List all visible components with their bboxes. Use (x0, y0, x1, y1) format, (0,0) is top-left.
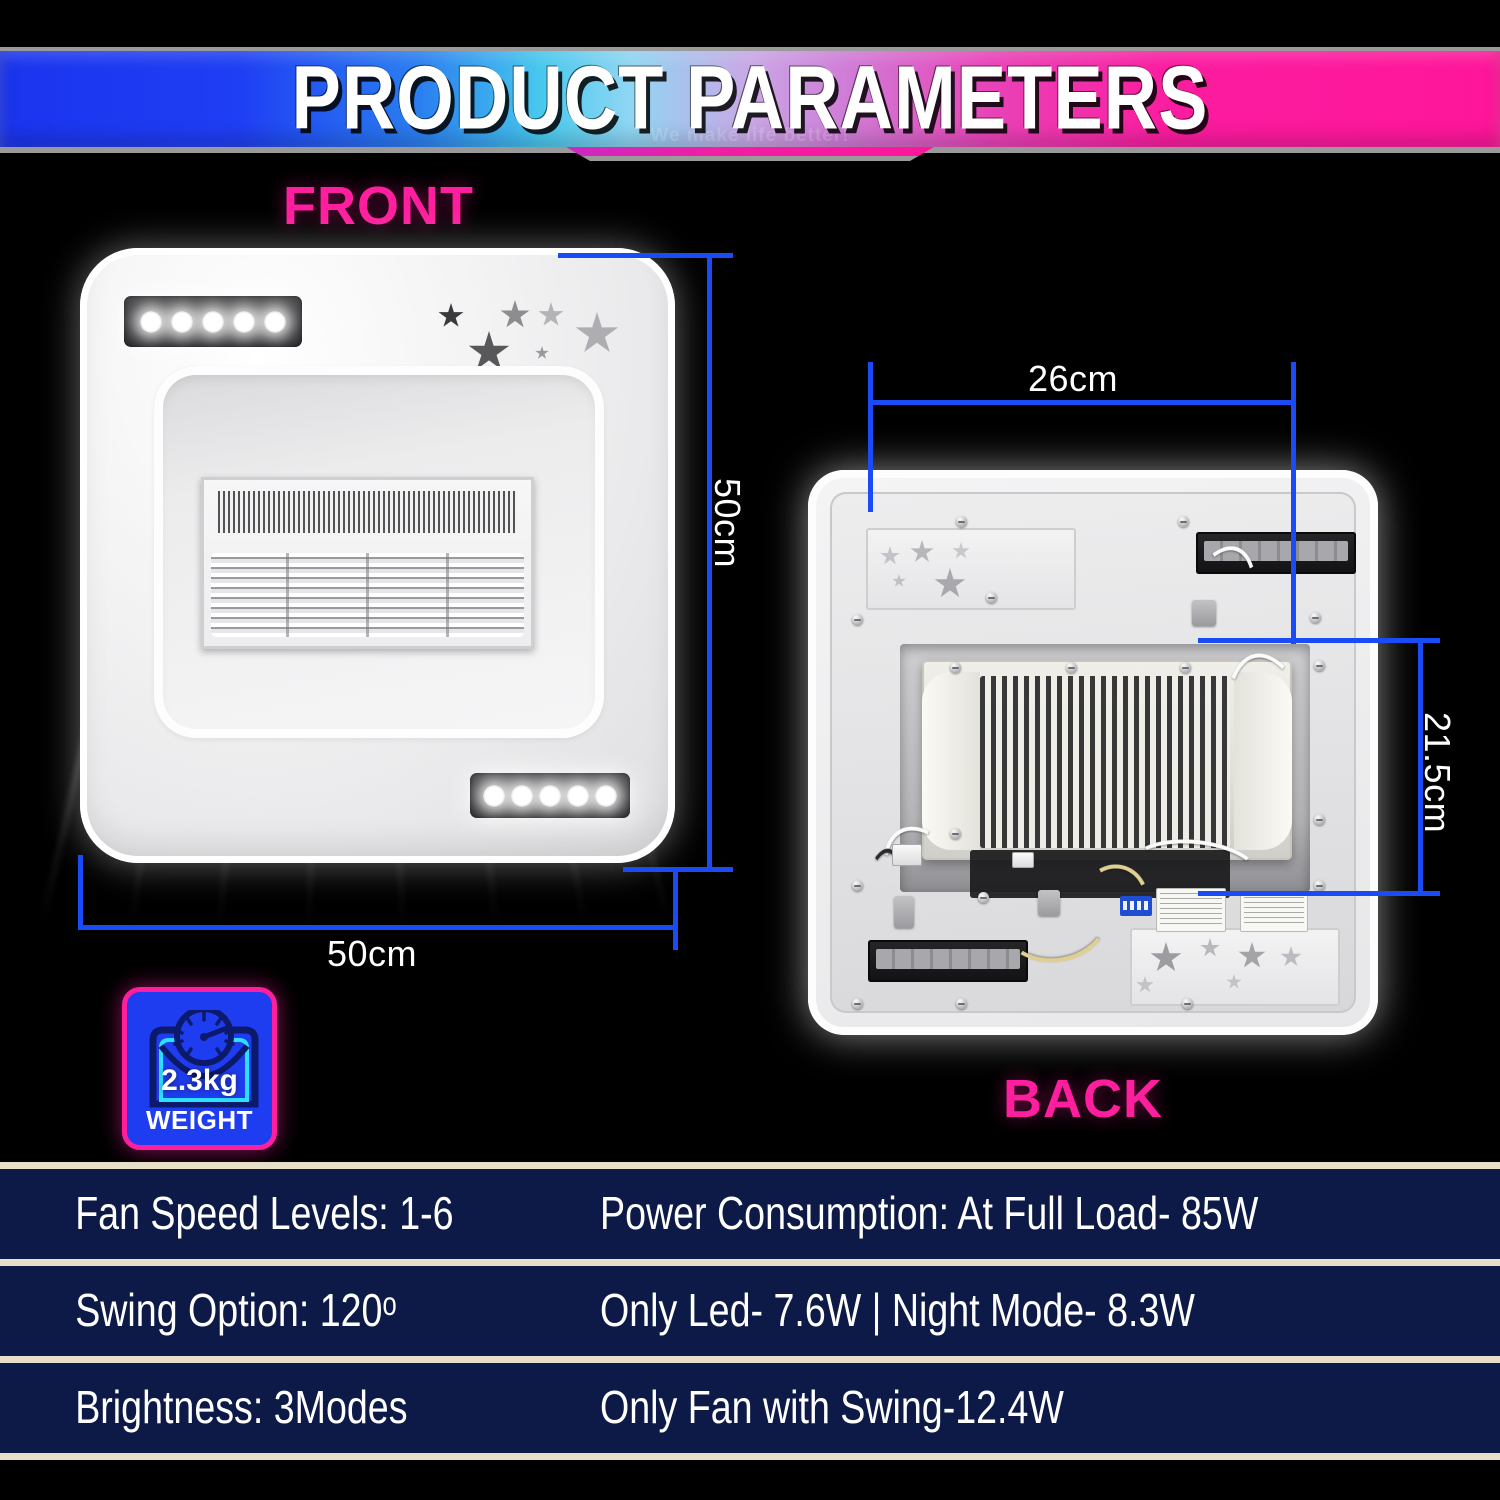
star-decoration-icon (1226, 974, 1242, 990)
led-dot (511, 785, 533, 807)
product-front-view (80, 248, 675, 863)
front-height-tick-bottom (623, 867, 733, 872)
front-width-label: 50cm (327, 933, 417, 975)
screw (956, 516, 967, 527)
table-divider (0, 1162, 1500, 1169)
back-led-contacts (876, 949, 1020, 969)
product-parameters-infographic: We make life better! PRODUCT PARAMETERS … (0, 0, 1500, 1500)
back-width-tick-right (1291, 362, 1296, 644)
screw (1180, 662, 1191, 673)
star-decoration-icon (880, 546, 900, 566)
screw (852, 880, 863, 891)
spec-label-power-full: Power Consumption: At Full Load- 85W (600, 1188, 1446, 1240)
table-divider (0, 1453, 1500, 1460)
screw (852, 614, 863, 625)
back-height-tick-bottom (1198, 891, 1440, 896)
screw (956, 998, 967, 1009)
back-height-label: 21.5cm (1416, 712, 1458, 833)
weight-caption: WEIGHT (127, 1105, 272, 1136)
front-led-strip-bottom (470, 773, 630, 818)
screw (986, 592, 997, 603)
spec-label-power-led: Only Led- 7.6W | Night Mode- 8.3W (600, 1285, 1446, 1337)
star-panel-top (866, 528, 1076, 610)
weight-value: 2.3kg (127, 1064, 272, 1098)
led-dot (202, 311, 224, 333)
table-row: Swing Option: 120ᵒ Only Led- 7.6W | Nigh… (0, 1266, 1500, 1356)
cable-clip (894, 896, 914, 928)
star-decoration-icon (892, 574, 906, 588)
star-decoration-icon (538, 302, 564, 328)
screw (1066, 662, 1077, 673)
led-dot (567, 785, 589, 807)
warning-label-sticker (1240, 892, 1308, 932)
star-decoration-icon (575, 312, 619, 356)
star-decoration-icon (1238, 942, 1266, 970)
star-decoration-icon (952, 542, 970, 560)
led-dot (264, 311, 286, 333)
table-divider (0, 1356, 1500, 1363)
wire-connector (1012, 852, 1034, 868)
star-decoration-icon (934, 568, 966, 600)
screw (950, 662, 961, 673)
front-width-tick-right (673, 868, 678, 950)
spec-label-power-fan: Only Fan with Swing-12.4W (600, 1382, 1446, 1434)
motor-end-cap-left (922, 672, 980, 850)
page-title: PRODUCT PARAMETERS (0, 36, 1500, 158)
led-dot (483, 785, 505, 807)
table-row: Fan Speed Levels: 1-6 Power Consumption:… (0, 1169, 1500, 1259)
star-decoration-icon (500, 300, 530, 330)
led-dot (539, 785, 561, 807)
front-led-strip-top (124, 296, 302, 347)
screw (1314, 814, 1325, 825)
screw (1314, 660, 1325, 671)
weight-badge: 2.3kg WEIGHT (122, 987, 277, 1150)
spec-label-fan-speed: Fan Speed Levels: 1-6 (0, 1188, 564, 1240)
star-panel-bottom (1130, 928, 1340, 1006)
screw (1182, 998, 1193, 1009)
screw (978, 892, 989, 903)
back-width-line (868, 400, 1296, 405)
screw (1310, 612, 1321, 623)
cable-clip (1038, 890, 1060, 916)
intake-slats (218, 491, 516, 533)
front-width-tick-left (78, 855, 83, 930)
back-height-tick-top (1198, 638, 1440, 643)
front-width-line (78, 925, 678, 930)
star-decoration-icon (1150, 942, 1182, 974)
cable-clip (1192, 600, 1216, 626)
star-decoration-icon (1136, 976, 1154, 994)
table-divider (0, 1259, 1500, 1266)
star-decoration-icon (438, 303, 464, 329)
spec-label-swing: Swing Option: 120ᵒ (0, 1285, 564, 1337)
table-row: Brightness: 3Modes Only Fan with Swing-1… (0, 1363, 1500, 1453)
spec-label-brightness: Brightness: 3Modes (0, 1382, 564, 1434)
back-view-label: BACK (1003, 1068, 1163, 1130)
star-decoration-icon (910, 540, 934, 564)
star-decoration-icon (1280, 946, 1302, 968)
screw (950, 828, 961, 839)
screw (852, 998, 863, 1009)
led-dot (140, 311, 162, 333)
specifications-table: Fan Speed Levels: 1-6 Power Consumption:… (0, 1162, 1500, 1460)
header-banner: We make life better! PRODUCT PARAMETERS (0, 47, 1500, 155)
front-view-label: FRONT (283, 175, 474, 237)
screw (1178, 516, 1189, 527)
led-dot (233, 311, 255, 333)
dip-switch (1120, 896, 1152, 916)
front-height-label: 50cm (706, 478, 748, 568)
motor-vent-slats (980, 676, 1230, 848)
back-width-tick-left (868, 362, 873, 512)
led-dot (595, 785, 617, 807)
front-air-grille (201, 477, 534, 649)
star-decoration-icon (535, 346, 549, 360)
wire-connector (892, 844, 922, 866)
screw (1314, 880, 1325, 891)
led-dot (171, 311, 193, 333)
back-width-label: 26cm (1028, 358, 1118, 400)
star-decoration-icon (1200, 938, 1220, 958)
back-chassis-plate (830, 492, 1356, 1013)
